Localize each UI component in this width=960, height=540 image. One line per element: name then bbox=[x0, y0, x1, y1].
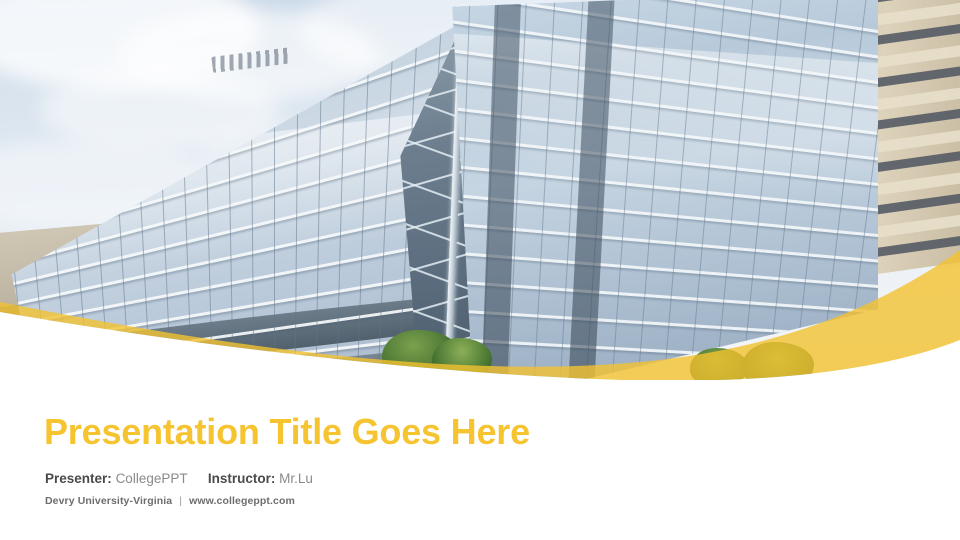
slide-text-area: Presentation Title Goes Here Presenter: … bbox=[0, 380, 960, 540]
tree-shape bbox=[742, 342, 814, 380]
presenter-meta-line: Presenter: CollegePPT Instructor: Mr.Lu bbox=[45, 471, 313, 486]
footer-institution: Devry University-Virginia bbox=[45, 495, 172, 507]
page-title: Presentation Title Goes Here bbox=[44, 411, 530, 453]
presentation-slide: Presentation Title Goes Here Presenter: … bbox=[0, 0, 960, 540]
hero-image-region bbox=[0, 0, 960, 380]
tree-shape bbox=[432, 338, 492, 380]
building-photograph bbox=[0, 0, 960, 380]
instructor-value: Mr.Lu bbox=[279, 471, 313, 486]
footer-line: Devry University-Virginia | www.collegep… bbox=[45, 495, 295, 507]
instructor-label: Instructor: bbox=[208, 471, 276, 486]
tree-shape bbox=[690, 348, 748, 380]
presenter-label: Presenter: bbox=[45, 471, 112, 486]
presenter-value: CollegePPT bbox=[116, 471, 188, 486]
glass-building-right-wing bbox=[448, 0, 878, 380]
footer-website: www.collegeppt.com bbox=[189, 495, 295, 507]
footer-separator: | bbox=[175, 495, 186, 507]
